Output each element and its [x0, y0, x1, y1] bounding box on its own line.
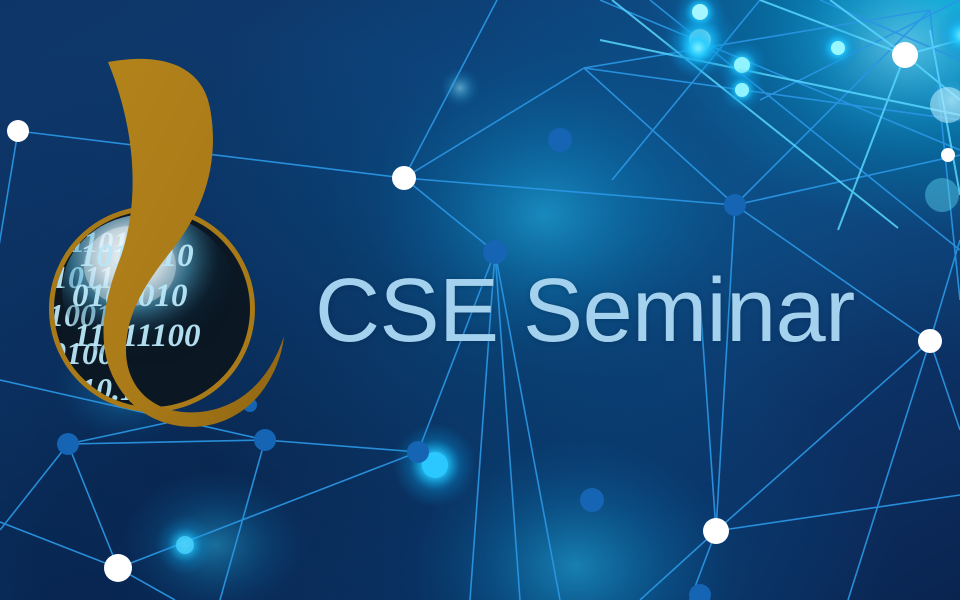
- svg-text:11011100: 11011100: [74, 318, 201, 354]
- logo-graphic: 1101 10110 10011 0100 010.1 01010 101011…: [44, 44, 324, 444]
- cse-seminar-banner: 1101 10110 10011 0100 010.1 01010 101011…: [0, 0, 960, 600]
- cse-flame-globe-logo: 1101 10110 10011 0100 010.1 01010 101011…: [44, 44, 324, 444]
- page-title: CSE Seminar: [315, 266, 855, 356]
